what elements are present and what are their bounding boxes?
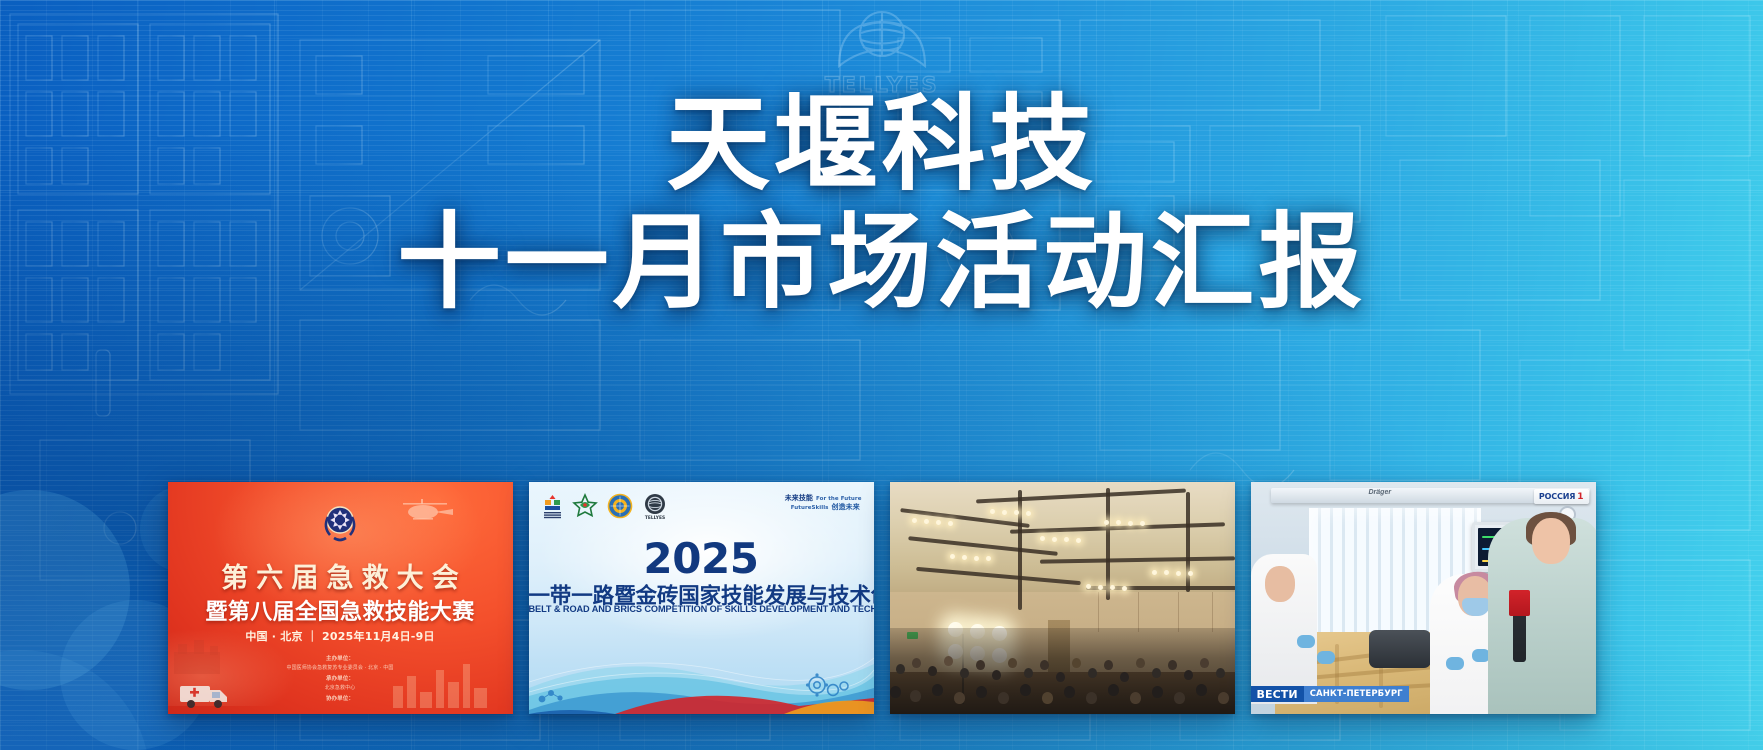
card2-title-en: BELT & ROAD AND BRICS COMPETITION OF SKI… — [529, 604, 874, 614]
slogan-row1-en: For the Future — [816, 496, 862, 502]
emergency-medical-star-emblem-icon — [315, 497, 365, 547]
card-conference-hall[interactable] — [890, 482, 1235, 714]
brics-logo-icon — [542, 493, 563, 519]
poster-root: TELLYES 天堰科技 十一月市场活动汇报 — [0, 0, 1763, 750]
channel-logo-text: РОССИЯ — [1539, 492, 1575, 501]
card-brics-2025[interactable]: TELLYES 未来技能For the Future FutureSkills创… — [529, 482, 874, 714]
card2-year: 2025 — [529, 534, 874, 583]
tellyes-watermark-text: TELLYES — [824, 73, 938, 97]
microphone-flag-icon — [1509, 590, 1530, 616]
card2-slogan: 未来技能For the Future FutureSkills创造未来 — [785, 494, 862, 512]
molecule-icon-left — [537, 684, 567, 706]
assistant-glove-right — [1317, 651, 1335, 664]
slogan-row2-en: FutureSkills — [791, 505, 829, 511]
card2-org-logos: TELLYES — [542, 493, 668, 521]
card1-title-main: 第六届急救大会 — [168, 556, 513, 595]
svg-text:TELLYES: TELLYES — [644, 515, 664, 521]
chyron-secondary: САНКТ-ПЕТЕРБУРГ — [1304, 686, 1409, 702]
skills-star-logo-icon — [572, 493, 598, 519]
rossiya-1-channel-logo: РОССИЯ 1 — [1534, 489, 1589, 504]
nurse-glove-right — [1446, 657, 1464, 670]
slogan-row2-zh: 创造未来 — [832, 503, 860, 511]
reporter-head — [1532, 518, 1570, 564]
great-wall-icon — [174, 634, 220, 674]
ambulance-icon — [178, 678, 230, 710]
nurse-glove-left — [1472, 649, 1490, 662]
slogan-row1-zh: 未来技能 — [785, 494, 813, 502]
wsc-emblem-logo-icon — [607, 493, 633, 519]
card-emergency-conference[interactable]: 第六届急救大会 暨第八届全国急救技能大赛 中国 · 北京 ｜ 2025年11月4… — [168, 482, 513, 714]
tellyes-logo-icon: TELLYES — [642, 493, 668, 521]
city-skyline-icon — [389, 658, 499, 708]
card-russia-tv-news[interactable]: Dräger 78 98 16 — [1251, 482, 1596, 714]
news-chyron: ВЕСТИ САНКТ-ПЕТЕРБУРГ — [1251, 686, 1409, 702]
chyron-primary: ВЕСТИ — [1251, 686, 1304, 702]
card1-title-sub: 暨第八届全国急救技能大赛 — [168, 594, 513, 626]
helicopter-icon — [397, 492, 457, 526]
assistant-glove-left — [1297, 635, 1315, 648]
photo-card-strip: 第六届急救大会 暨第八届全国急救技能大赛 中国 · 北京 ｜ 2025年11月4… — [0, 482, 1763, 714]
assistant-head — [1265, 566, 1295, 602]
gear-cluster-icon — [806, 672, 850, 700]
airway-simulator-device — [1369, 630, 1431, 668]
channel-logo-number: 1 — [1577, 492, 1583, 502]
nurse-face-mask — [1462, 598, 1490, 616]
tellyes-watermark-logo: TELLYES — [797, 0, 967, 104]
audience-crowd — [890, 628, 1235, 714]
drager-brand-label: Dräger — [1369, 489, 1392, 496]
